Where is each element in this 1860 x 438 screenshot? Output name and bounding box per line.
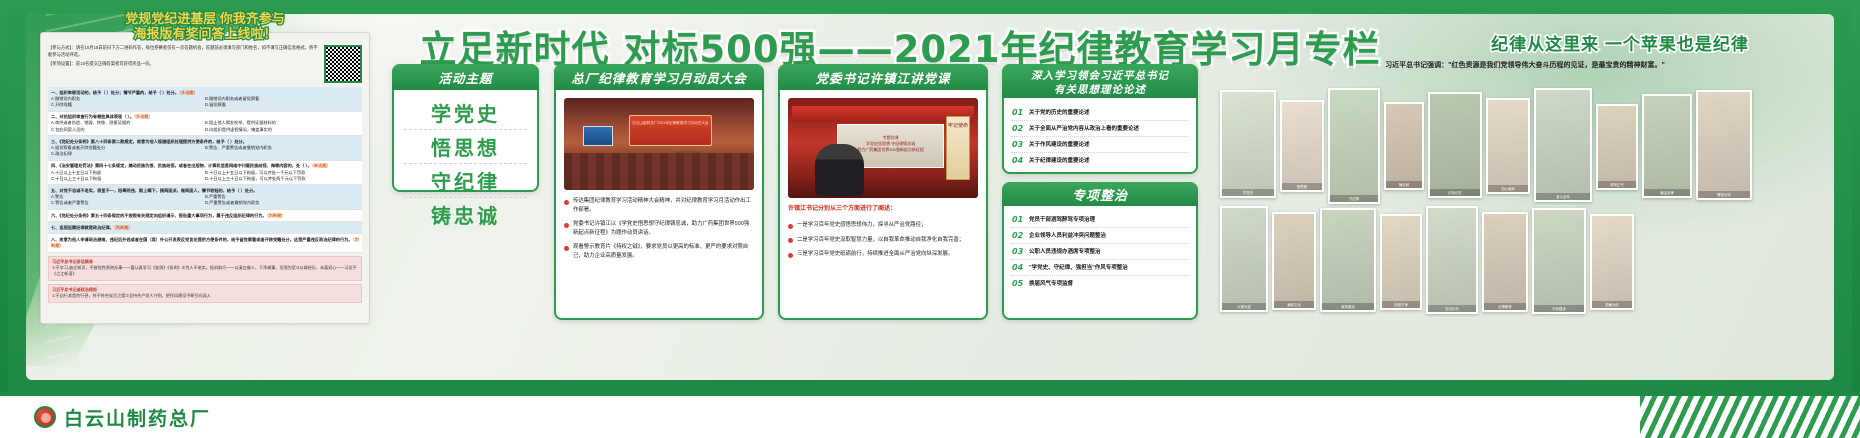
quiz-option: C.十日以上三十日以下拘留 (51, 176, 205, 182)
poster-thumbnail[interactable]: 悟思想 (1280, 100, 1324, 192)
quiz-question-tag: （多选题） (179, 90, 198, 95)
bullet-item: 一是学习百年党史感悟思想伟力，探寻从严治党路径； (788, 221, 978, 230)
quiz-question-text: 二、对抗组织审查行为有哪些具体表现（ ）。 (51, 114, 134, 119)
poster-caption: 勤廉为民 (1592, 301, 1632, 308)
poster-thumbnail[interactable]: 铸忠诚 (1384, 102, 1424, 190)
poster-thumbnail[interactable]: 家风建设 (1320, 208, 1376, 312)
bullet-text: 三是学习百年党史砥砺前行，持续推进全面从严治党向纵深发展。 (797, 250, 953, 259)
poster-thumbnail[interactable]: 作风建设 (1532, 208, 1586, 314)
bullet-text: 二是学习百年党史汲取智慧力量，以自我革命推动自我净化自我完善； (797, 236, 964, 245)
card-study-header-line-1: 深入学习领会习近平总书记 (1031, 70, 1169, 82)
quiz-note-body: ①不学习,缺乏知识，不按党性原则办事——要认真学习《准则》《条例》②为人不老实，… (52, 265, 358, 277)
card-mobilization-meeting: 总厂纪律教育学习月动员大会 白云山制药总厂2021年纪律教育学习月动员大会 传达… (554, 64, 764, 320)
item-number: 04 (1012, 157, 1024, 165)
poster-caption: 悟思想 (1282, 183, 1322, 190)
poster-caption: 守纪律 (1330, 195, 1378, 202)
numbered-item: 01关于党的历史的重要论述 (1011, 105, 1189, 121)
quiz-note: 习近平总书记谈政治规矩 ①不自行其是的行径，符不符合党员之德②坚持共产党人守则，… (48, 284, 362, 303)
item-number: 03 (1012, 141, 1024, 149)
poster-thumbnail[interactable]: 学党史 (1220, 90, 1276, 198)
bullet-dot-icon (564, 200, 569, 205)
bullet-item: 党委书记许镇江以《学党史悟思想守纪律铸忠诚，助力广药集团世界500强新起点新征程… (564, 220, 754, 237)
poster-caption: 忠诚干净 (1382, 301, 1420, 308)
quiz-item: 四、《治安管理处罚法》第四十七条规定，煽动民族仇恨、民族歧视，或者在出版物、计算… (48, 161, 362, 186)
quiz-question-tag: （判断题） (267, 213, 286, 218)
bullet-text: 党委书记许镇江以《学党史悟思想守纪律铸忠诚，助力广药集团世界500强新起点新征程… (573, 220, 754, 237)
quiz-option: D.严重警告或者撤销党内职务 (205, 200, 359, 206)
quiz-option: C.开除党籍 (51, 102, 205, 108)
bullet-dot-icon (564, 223, 569, 228)
lecture-photo: 专题党课 学党史悟思想 守纪律铸忠诚 助力广药集团世界500强新起点新征程 牢记… (788, 98, 978, 198)
poster-caption: 清风正气 (1598, 181, 1636, 188)
poster-thumbnail[interactable]: 廉政文化 (1272, 212, 1316, 310)
company-name: 白云山制药总厂 (64, 404, 211, 431)
card-study-theory-header: 深入学习领会习近平总书记 有关思想理论论述 (1002, 64, 1198, 98)
bullet-item: 观看警示教育片《持权之钺》，要求党员以更高的标准、更严的要求对照自己，助力企业高… (564, 243, 754, 260)
theme-line: 守纪律 (404, 164, 527, 198)
photo-screen-left (583, 126, 613, 146)
quiz-option: B.警告、严重警告或者撤销党内职务 (205, 145, 359, 151)
quiz-question-text: 八、故意为他人申请政治避难、违纪后外逃或者在国（境）外公开发表反党言论提供方便条… (51, 237, 353, 242)
quiz-option: D.十日以上三十日以下拘留，可以并处两千元以下罚款 (205, 176, 359, 182)
lecture-lead-text: 许镇江书记分别从三个方面进行了阐述： (788, 205, 978, 214)
numbered-item: 01党员干部酒驾醉驾专项治理 (1011, 212, 1189, 228)
poster-caption: 学党史 (1222, 189, 1274, 196)
quiz-rule-prize: 【奖项设置】：前10名提交正确答案者可获得奖品一份。 (48, 61, 319, 68)
poster-caption: 作风建设 (1534, 305, 1584, 312)
item-number: 04 (1012, 264, 1024, 272)
right-headline: 纪律从这里来 一个苹果也是纪律 (1410, 30, 1830, 55)
quiz-question-text: 七、巡视巡察纪律就是政治纪律。 (51, 225, 114, 230)
numbered-item: 05换届风气专项监督 (1011, 276, 1189, 291)
item-text: 关于党的历史的重要论述 (1029, 109, 1090, 117)
item-text: "学党史、守纪律、强担当"作风专项整治 (1029, 264, 1128, 272)
lecture-bullets: 一是学习百年党史感悟思想伟力，探寻从严治党路径； 二是学习百年党史汲取智慧力量，… (788, 221, 978, 259)
quiz-question-tag: （单选题） (312, 163, 331, 168)
card-special-rectification-body: 01党员干部酒驾醉驾专项治理 02企业领导人员利益冲突问题整治 03公职人员违规… (1004, 208, 1196, 318)
company-logo: 白云山制药总厂 (34, 404, 211, 431)
poster-thumbnail[interactable]: 忠诚干净 (1380, 214, 1422, 310)
photo-speaker (815, 144, 864, 196)
card-party-lecture-body: 专题党课 学党史悟思想 守纪律铸忠诚 助力广药集团世界500强新起点新征程 牢记… (780, 92, 986, 318)
numbered-item: 02关于全面从严治党内容从政治上看的重要论述 (1011, 121, 1189, 137)
photo-calligraphy-scroll: 牢记使命 (946, 116, 971, 180)
item-text: 关于作风建设的重要论述 (1029, 141, 1090, 149)
quiz-rules: 【参与方式】：请在10月15日前扫下方二维码作答，每位参赛者仅有一次答题机会，答… (48, 45, 319, 83)
poster-caption: 铸忠诚 (1386, 181, 1422, 188)
item-number: 02 (1012, 125, 1024, 133)
quiz-option: C.政治纪律 (51, 151, 205, 157)
poster-grid: 学党史悟思想守纪律铸忠诚红色记忆初心使命奋斗百年清风正气廉洁自律警钟长鸣以案为鉴… (1220, 88, 1830, 320)
card-activity-theme-body: 学党史 悟思想 守纪律 铸忠诚 (394, 92, 537, 190)
card-mobilization-header: 总厂纪律教育学习月动员大会 (554, 64, 764, 90)
card-party-lecture-header: 党委书记许镇江讲党课 (778, 64, 988, 90)
bullet-dot-icon (564, 246, 569, 251)
poster-thumbnail[interactable]: 纪律教育 (1482, 212, 1528, 312)
card-party-lecture: 党委书记许镇江讲党课 专题党课 学党史悟思想 守纪律铸忠诚 助力广药集团世界50… (778, 64, 988, 320)
item-text: 党员干部酒驾醉驾专项治理 (1029, 216, 1095, 224)
item-text: 公职人员违规办酒席专项整治 (1029, 248, 1101, 256)
mobilization-bullets: 传达集团纪律教育学习活动精神大会精神，并对纪律教育学习月活动作出工作部署。 党委… (564, 197, 754, 261)
poster-caption: 担当作为 (1428, 305, 1476, 312)
item-number: 01 (1012, 216, 1024, 224)
company-logo-icon (34, 406, 56, 428)
poster-caption: 奋斗百年 (1536, 193, 1590, 200)
quiz-option: D.留党察看 (205, 102, 359, 108)
numbered-item: 04关于纪律建设的重要论述 (1011, 153, 1189, 168)
bullet-dot-icon (788, 238, 793, 243)
bullet-item: 传达集团纪律教育学习活动精神大会精神，并对纪律教育学习月活动作出工作部署。 (564, 197, 754, 214)
poster-thumbnail[interactable]: 红色记忆 (1428, 92, 1482, 198)
poster-caption: 红色记忆 (1430, 189, 1480, 196)
quiz-title-line-2: 海报版有奖问答上线啦！ (48, 26, 362, 41)
quiz-rule-participation: 【参与方式】：请在10月15日前扫下方二维码作答，每位参赛者仅有一次答题机会，答… (48, 45, 319, 58)
bullet-dot-icon (788, 253, 793, 258)
quiz-note: 习近平总书记讲话摘录 ①不学习,缺乏知识，不按党性原则办事——要认真学习《准则》… (48, 256, 362, 281)
bottom-stripes-decor (1640, 396, 1860, 438)
poster-caption: 以案为鉴 (1222, 303, 1266, 310)
numbered-item: 04"学党史、守纪律、强担当"作风专项整治 (1011, 260, 1189, 276)
item-text: 企业领导人员利益冲突问题整治 (1029, 232, 1106, 240)
quiz-item: 八、故意为他人申请政治避难、违纪后外逃或者在国（境）外公开发表反党言论提供方便条… (48, 234, 362, 252)
quiz-item: 三、《党纪处分条例》第八十四条第二款规定，故意为他人规避组织处理提供方便条件的，… (48, 136, 362, 161)
quiz-question-text: 一、组织串联活动的，给予（ ）处分；情节严重的，给予（ ）处分。 (51, 90, 179, 95)
poster-thumbnail[interactable]: 守纪律 (1328, 88, 1380, 204)
right-headline-text: 纪律从这里来 一个苹果也是纪律 (1410, 30, 1830, 55)
poster-thumbnail[interactable]: 以案为鉴 (1220, 206, 1268, 312)
card-study-theory-body: 01关于党的历史的重要论述 02关于全面从严治党内容从政治上看的重要论述 03关… (1004, 100, 1196, 172)
poster-thumbnail[interactable]: 担当作为 (1426, 206, 1478, 314)
quiz-option: D.向组织提供虚假情况，掩盖事实的 (205, 127, 359, 133)
item-text: 换届风气专项监督 (1029, 280, 1073, 288)
quiz-question-tag: （判断题） (114, 225, 133, 230)
card-special-rectification: 专项整治 01党员干部酒驾醉驾专项治理 02企业领导人员利益冲突问题整治 03公… (1002, 182, 1198, 320)
poster-thumbnail[interactable]: 廉洁自律 (1642, 94, 1692, 198)
item-number: 03 (1012, 248, 1024, 256)
card-activity-theme-header: 活动主题 (392, 64, 539, 90)
poster-thumbnail[interactable]: 清风正气 (1596, 104, 1638, 190)
poster-caption: 纪律教育 (1484, 303, 1526, 310)
poster-wall: 学党史悟思想守纪律铸忠诚红色记忆初心使命奋斗百年清风正气廉洁自律警钟长鸣以案为鉴… (1220, 72, 1830, 322)
theme-line: 学党史 (404, 96, 527, 130)
item-number: 01 (1012, 109, 1024, 117)
numbered-item: 03公职人员违规办酒席专项整治 (1011, 244, 1189, 260)
quiz-option: C.警告或者严重警告 (51, 200, 205, 206)
item-number: 05 (1012, 280, 1024, 288)
poster-thumbnail[interactable]: 勤廉为民 (1590, 214, 1634, 310)
poster-caption: 初心使命 (1488, 185, 1528, 192)
bullet-text: 传达集团纪律教育学习活动精神大会精神，并对纪律教育学习月活动作出工作部署。 (573, 197, 754, 214)
quiz-title-line-1: 党规党纪进基层 你我齐参与 (125, 11, 285, 26)
quiz-title: 党规党纪进基层 你我齐参与 海报版有奖问答上线啦！ (48, 11, 362, 41)
poster-caption: 廉洁自律 (1644, 189, 1690, 196)
card-study-header-line-2: 有关思想理论论述 (1054, 84, 1146, 96)
quiz-item: 一、组织串联活动的，给予（ ）处分；情节严重的，给予（ ）处分。（多选题） A.… (48, 87, 362, 112)
card-activity-theme: 活动主题 学党史 悟思想 守纪律 铸忠诚 (392, 64, 539, 192)
bullet-item: 三是学习百年党史砥砺前行，持续推进全面从严治党向纵深发展。 (788, 250, 978, 259)
photo-seats (564, 153, 754, 190)
poster-board: 立足新时代 对标500强——2021年纪律教育学习月专栏 纪律从这里来 一个苹果… (0, 0, 1860, 438)
quiz-question-text: 五、对党不忠诚不老实，表里不一，阳奉阴违，欺上瞒下，搞两面派，做两面人，情节较轻… (51, 188, 257, 193)
poster-caption: 廉政文化 (1274, 301, 1314, 308)
bullet-text: 一是学习百年党史感悟思想伟力，探寻从严治党路径； (797, 221, 926, 230)
bullet-item: 二是学习百年党史汲取智慧力量，以自我革命推动自我净化自我完善； (788, 236, 978, 245)
quiz-note-body: ①不自行其是的行径，符不符合党员之德②坚持共产党人守则，把作风建设不断引向深入 (52, 293, 358, 299)
item-text: 关于全面从严治党内容从政治上看的重要论述 (1029, 125, 1139, 133)
card-special-rectification-header: 专项整治 (1002, 182, 1198, 206)
theme-line: 悟思想 (404, 130, 527, 164)
bullet-dot-icon (788, 224, 793, 229)
bullet-text: 观看警示教育片《持权之钺》，要求党员以更高的标准、更严的要求对照自己，助力企业高… (573, 243, 754, 260)
quiz-question-text: 六、《党纪处分条例》第五十四条规定的不按照有关规定向组织请示、报告重大事项行为，… (51, 213, 267, 218)
poster-caption: 警钟长鸣 (1698, 191, 1750, 198)
photo-stage-banner: 白云山制药总厂2021年纪律教育学习月动员大会 (629, 115, 713, 146)
numbered-item: 03关于作风建设的重要论述 (1011, 137, 1189, 153)
wall-quote: 习近平总书记强调："红色资源是我们党领导伟大奋斗历程的见证，是最宝贵的精神财富。… (1220, 60, 1830, 70)
poster-thumbnail[interactable]: 警钟长鸣 (1696, 90, 1752, 200)
qr-code-icon[interactable] (324, 45, 362, 83)
quiz-question-text: 四、《治安管理处罚法》第四十七条规定，煽动民族仇恨、民族歧视，或者在出版物、计算… (51, 163, 312, 168)
quiz-option: C.包庇同案人员的 (51, 127, 205, 133)
mobilization-photo: 白云山制药总厂2021年纪律教育学习月动员大会 (564, 98, 754, 190)
quiz-question-tag: （多选题） (134, 114, 153, 119)
card-mobilization-body: 白云山制药总厂2021年纪律教育学习月动员大会 传达集团纪律教育学习活动精神大会… (556, 92, 762, 318)
quiz-rules-row: 【参与方式】：请在10月15日前扫下方二维码作答，每位参赛者仅有一次答题机会，答… (48, 45, 362, 83)
card-study-theory: 深入学习领会习近平总书记 有关思想理论论述 01关于党的历史的重要论述 02关于… (1002, 64, 1198, 174)
quiz-item: 二、对抗组织审查行为有哪些具体表现（ ）。（多选题） A.串供或者伪造、销毁、转… (48, 112, 362, 137)
poster-caption: 家风建设 (1322, 303, 1374, 310)
item-number: 02 (1012, 232, 1024, 240)
quiz-panel: 党规党纪进基层 你我齐参与 海报版有奖问答上线啦！ 【参与方式】：请在10月15… (40, 32, 370, 324)
bottom-bar: 白云山制药总厂 (0, 396, 1860, 438)
quiz-question-list: 一、组织串联活动的，给予（ ）处分；情节严重的，给予（ ）处分。（多选题） A.… (48, 87, 362, 253)
quiz-item: 六、《党纪处分条例》第五十四条规定的不按照有关规定向组织请示、报告重大事项行为，… (48, 210, 362, 222)
item-text: 关于纪律建设的重要论述 (1029, 157, 1090, 165)
quiz-item: 七、巡视巡察纪律就是政治纪律。（判断题） (48, 222, 362, 234)
poster-thumbnail[interactable]: 奋斗百年 (1534, 88, 1592, 202)
poster-thumbnail[interactable]: 初心使命 (1486, 98, 1530, 194)
numbered-item: 02企业领导人员利益冲突问题整治 (1011, 228, 1189, 244)
quiz-question-text: 三、《党纪处分条例》第八十四条第二款规定，故意为他人规避组织处理提供方便条件的，… (51, 139, 247, 144)
theme-line: 铸忠诚 (404, 198, 527, 231)
quiz-item: 五、对党不忠诚不老实，表里不一，阳奉阴违，欺上瞒下，搞两面派，做两面人，情节较轻… (48, 185, 362, 210)
